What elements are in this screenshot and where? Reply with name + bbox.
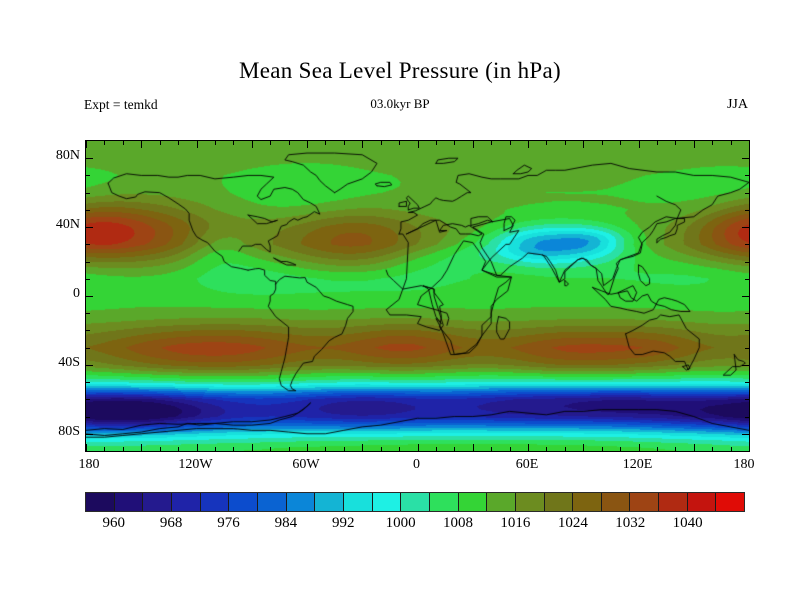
y-axis-tick — [86, 279, 90, 280]
colorbar-swatch — [430, 493, 459, 511]
x-axis-tick — [289, 447, 290, 451]
y-axis-tick — [86, 227, 93, 228]
colorbar-labels: 960968976984992100010081016102410321040 — [85, 515, 745, 537]
colorbar-swatch — [315, 493, 344, 511]
x-axis-tick — [583, 444, 584, 451]
x-axis-tick — [546, 447, 547, 451]
x-axis-tick — [362, 141, 363, 148]
x-axis-tick — [454, 141, 455, 145]
page-title: Mean Sea Level Pressure (in hPa) — [0, 58, 800, 84]
x-axis-tick — [86, 444, 87, 451]
x-axis-label: 60E — [492, 457, 562, 473]
colorbar-swatch — [459, 493, 488, 511]
y-axis-tick — [745, 399, 749, 400]
x-axis-tick — [749, 141, 750, 148]
y-axis-label: 40N — [28, 217, 80, 233]
y-axis-tick — [745, 262, 749, 263]
colorbar-tick-label: 1008 — [428, 515, 488, 532]
colorbar-swatch — [258, 493, 287, 511]
y-axis-tick — [86, 193, 90, 194]
colorbar-swatch — [373, 493, 402, 511]
x-axis-tick — [657, 447, 658, 451]
x-axis-tick — [454, 447, 455, 451]
x-axis-tick — [694, 141, 695, 148]
y-axis-labels: 80N40N040S80S — [22, 140, 80, 450]
x-axis-tick — [178, 447, 179, 451]
y-axis-tick — [86, 434, 93, 435]
y-axis-tick — [745, 330, 749, 331]
x-axis-tick — [565, 141, 566, 145]
y-axis-tick — [745, 417, 749, 418]
colorbar-tick-label: 1032 — [600, 515, 660, 532]
x-axis-tick — [215, 447, 216, 451]
x-axis-tick — [639, 141, 640, 148]
colorbar-swatch — [401, 493, 430, 511]
x-axis-label: 0 — [382, 457, 452, 473]
x-axis-tick — [436, 141, 437, 145]
experiment-label: Expt = temkd — [84, 97, 158, 113]
colorbar-swatch — [716, 493, 744, 511]
x-axis-tick — [712, 141, 713, 145]
x-axis-tick — [510, 447, 511, 451]
x-axis-labels: 180120W60W060E120E180 — [85, 457, 748, 479]
x-axis-label: 180 — [709, 457, 779, 473]
x-axis-tick — [675, 447, 676, 451]
y-axis-tick — [742, 365, 749, 366]
colorbar-tick-label: 992 — [313, 515, 373, 532]
colorbar-tick-label: 1000 — [371, 515, 431, 532]
x-axis-tick — [620, 141, 621, 145]
x-axis-label: 120W — [161, 457, 231, 473]
colorbar-tick-label: 976 — [198, 515, 258, 532]
colorbar-swatch — [487, 493, 516, 511]
x-axis-tick — [528, 444, 529, 451]
x-axis-tick — [510, 141, 511, 145]
x-axis-tick — [657, 141, 658, 145]
y-axis-tick — [745, 175, 749, 176]
x-axis-tick — [344, 447, 345, 451]
x-axis-tick — [399, 447, 400, 451]
x-axis-tick — [344, 141, 345, 145]
colorbar-swatch — [86, 493, 115, 511]
colorbar-swatch — [287, 493, 316, 511]
x-axis-tick — [270, 141, 271, 145]
y-axis-tick — [745, 210, 749, 211]
x-axis-tick — [675, 141, 676, 145]
x-axis-tick — [620, 447, 621, 451]
season-label: JJA — [727, 97, 748, 113]
x-axis-tick — [197, 444, 198, 451]
y-axis-label: 80N — [28, 148, 80, 164]
y-axis-tick — [86, 365, 93, 366]
colorbar-tick-label: 984 — [256, 515, 316, 532]
y-axis-label: 80S — [28, 424, 80, 440]
x-axis-tick — [104, 141, 105, 145]
y-axis-tick — [742, 296, 749, 297]
x-axis-tick — [123, 141, 124, 145]
figure-root: Mean Sea Level Pressure (in hPa) 03.0kyr… — [0, 0, 800, 600]
x-axis-tick — [694, 444, 695, 451]
y-axis-tick — [745, 313, 749, 314]
x-axis-tick — [270, 447, 271, 451]
y-axis-tick — [86, 244, 90, 245]
x-axis-tick — [233, 141, 234, 145]
y-axis-tick — [86, 330, 90, 331]
y-axis-tick — [86, 158, 93, 159]
colorbar-tick-label: 1040 — [658, 515, 718, 532]
y-axis-tick — [86, 348, 90, 349]
y-axis-tick — [745, 244, 749, 245]
colorbar-swatch — [172, 493, 201, 511]
x-axis-tick — [602, 447, 603, 451]
x-axis-tick — [583, 141, 584, 148]
colorbar-swatch — [516, 493, 545, 511]
y-axis-tick — [86, 399, 90, 400]
x-axis-tick — [141, 141, 142, 148]
x-axis-tick — [289, 141, 290, 145]
pressure-field-canvas — [86, 141, 749, 451]
x-axis-tick — [123, 447, 124, 451]
x-axis-tick — [491, 141, 492, 145]
y-axis-tick — [742, 227, 749, 228]
y-axis-tick — [86, 313, 90, 314]
colorbar-swatch — [344, 493, 373, 511]
colorbar-tick-label: 1024 — [543, 515, 603, 532]
y-axis-tick — [745, 279, 749, 280]
x-axis-tick — [362, 444, 363, 451]
x-axis-tick — [381, 141, 382, 145]
colorbar-swatch — [659, 493, 688, 511]
colorbar-swatch — [229, 493, 258, 511]
x-axis-tick — [252, 444, 253, 451]
colorbar-swatches — [85, 492, 745, 512]
x-axis-tick — [473, 141, 474, 148]
x-axis-label: 120E — [603, 457, 673, 473]
colorbar-tick-label: 1016 — [485, 515, 545, 532]
x-axis-tick — [436, 447, 437, 451]
colorbar-swatch — [115, 493, 144, 511]
x-axis-tick — [418, 444, 419, 451]
x-axis-tick — [141, 444, 142, 451]
x-axis-tick — [731, 447, 732, 451]
colorbar-swatch — [143, 493, 172, 511]
y-axis-tick — [745, 193, 749, 194]
y-axis-tick — [745, 348, 749, 349]
y-axis-tick — [86, 210, 90, 211]
x-axis-tick — [528, 141, 529, 148]
map-plot-area — [85, 140, 750, 452]
y-axis-tick — [86, 382, 90, 383]
x-axis-tick — [639, 444, 640, 451]
y-axis-tick — [745, 382, 749, 383]
x-axis-tick — [473, 444, 474, 451]
colorbar-swatch — [573, 493, 602, 511]
x-axis-label: 180 — [54, 457, 124, 473]
colorbar-tick-label: 968 — [141, 515, 201, 532]
y-axis-tick — [86, 175, 90, 176]
x-axis-tick — [381, 447, 382, 451]
x-axis-tick — [233, 447, 234, 451]
x-axis-tick — [86, 141, 87, 148]
colorbar — [85, 492, 745, 512]
x-axis-tick — [307, 444, 308, 451]
x-axis-tick — [197, 141, 198, 148]
colorbar-swatch — [688, 493, 717, 511]
x-axis-tick — [160, 141, 161, 145]
x-axis-tick — [749, 444, 750, 451]
x-axis-tick — [307, 141, 308, 148]
y-axis-label: 40S — [28, 355, 80, 371]
x-axis-tick — [215, 141, 216, 145]
x-axis-tick — [546, 141, 547, 145]
colorbar-tick-label: 960 — [84, 515, 144, 532]
x-axis-tick — [418, 141, 419, 148]
colorbar-swatch — [602, 493, 631, 511]
colorbar-swatch — [201, 493, 230, 511]
x-axis-tick — [399, 141, 400, 145]
x-axis-tick — [325, 141, 326, 145]
x-axis-tick — [565, 447, 566, 451]
x-axis-tick — [325, 447, 326, 451]
y-axis-tick — [742, 158, 749, 159]
y-axis-label: 0 — [28, 286, 80, 302]
x-axis-tick — [712, 447, 713, 451]
x-axis-label: 60W — [271, 457, 341, 473]
x-axis-tick — [160, 447, 161, 451]
x-axis-tick — [731, 141, 732, 145]
colorbar-swatch — [630, 493, 659, 511]
y-axis-tick — [86, 262, 90, 263]
y-axis-tick — [86, 417, 90, 418]
x-axis-tick — [178, 141, 179, 145]
x-axis-tick — [491, 447, 492, 451]
x-axis-tick — [104, 447, 105, 451]
x-axis-tick — [252, 141, 253, 148]
colorbar-swatch — [545, 493, 574, 511]
y-axis-tick — [86, 296, 93, 297]
x-axis-tick — [602, 141, 603, 145]
y-axis-tick — [742, 434, 749, 435]
